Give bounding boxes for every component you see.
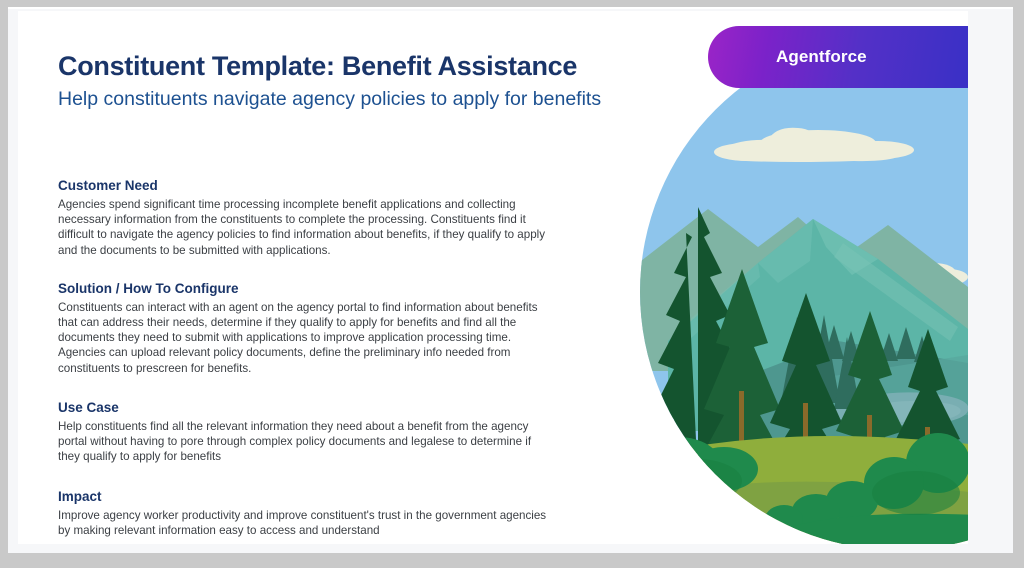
section-customer-need: Customer Need Agencies spend significant… (58, 177, 558, 258)
page-title: Constituent Template: Benefit Assistance (58, 51, 558, 83)
presentation-slide: Agentforce Constituent Template: Benefit… (18, 11, 968, 544)
slide-text-column: Constituent Template: Benefit Assistance… (58, 51, 558, 544)
agentforce-badge: Agentforce (708, 26, 968, 88)
section-body: Help constituents find all the relevant … (58, 419, 552, 465)
screenshot-viewport: Agentforce Constituent Template: Benefit… (0, 0, 1024, 568)
section-body: Improve agency worker productivity and i… (58, 508, 552, 539)
document-page-surface: Agentforce Constituent Template: Benefit… (8, 7, 1013, 553)
section-heading: Customer Need (58, 177, 558, 195)
section-body: Constituents can interact with an agent … (58, 300, 552, 376)
page-subtitle: Help constituents navigate agency polici… (58, 87, 558, 111)
section-body: Agencies spend significant time processi… (58, 197, 552, 258)
agentforce-badge-label: Agentforce (776, 47, 867, 67)
section-solution-how-to-configure: Solution / How To Configure Constituents… (58, 280, 558, 376)
section-heading: Solution / How To Configure (58, 280, 558, 298)
section-heading: Use Case (58, 399, 558, 417)
section-heading: Impact (58, 488, 558, 506)
section-use-case: Use Case Help constituents find all the … (58, 399, 558, 464)
mountain-forest-illustration (638, 11, 968, 544)
section-impact: Impact Improve agency worker productivit… (58, 488, 558, 538)
